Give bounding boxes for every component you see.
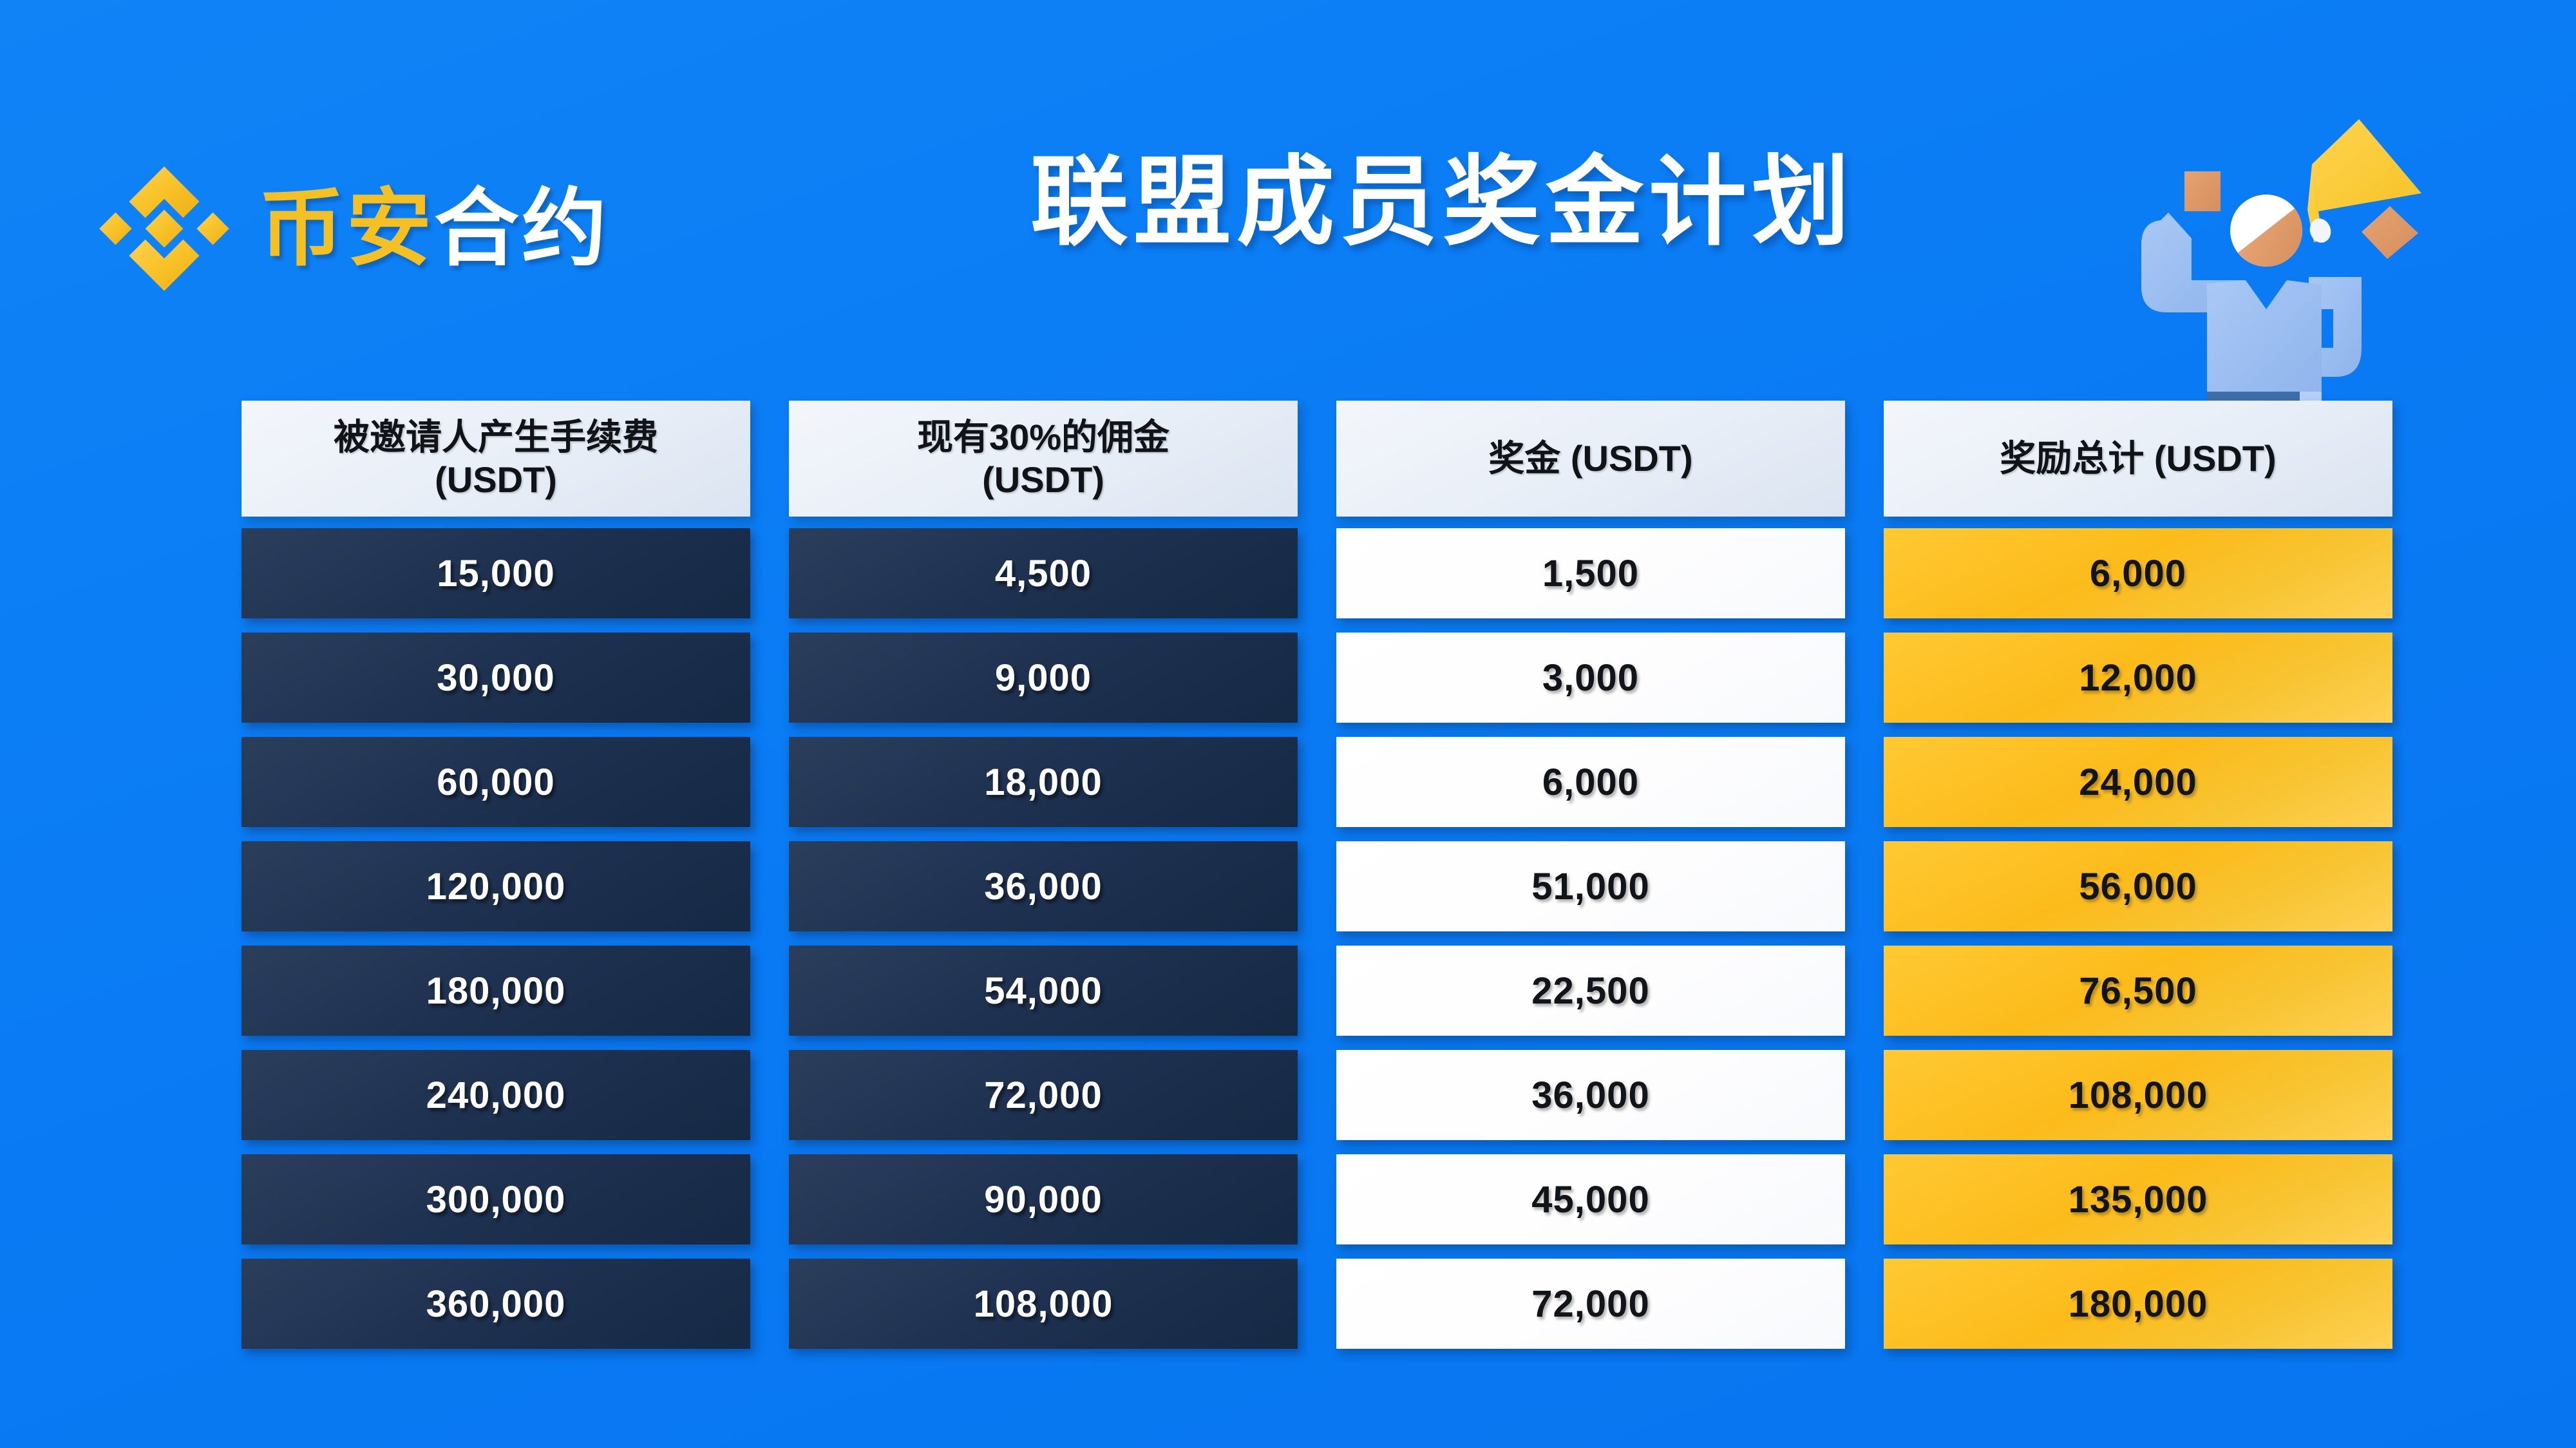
cell-invitee-fees: 240,000	[241, 1050, 750, 1140]
cell-invitee-fees: 15,000	[241, 528, 750, 618]
cell-bonus: 3,000	[1336, 633, 1845, 723]
page-title: 联盟成员奖金计划	[1030, 153, 1855, 251]
cell-invitee-fees: 300,000	[241, 1154, 750, 1244]
cell-total-reward: 108,000	[1884, 1050, 2392, 1140]
table-row: 300,000 90,000 45,000 135,000	[241, 1154, 2392, 1244]
cell-existing-commission: 18,000	[789, 737, 1298, 827]
table-row: 15,000 4,500 1,500 6,000	[241, 528, 2392, 618]
brand-name-secondary: 合约	[434, 181, 609, 276]
column-header-existing-commission: 现有30%的佣金(USDT)	[789, 401, 1298, 517]
table-header-row: 被邀请人产生手续费(USDT) 现有30%的佣金(USDT) 奖金 (USDT)…	[241, 401, 2392, 517]
column-header-invitee-fees: 被邀请人产生手续费(USDT)	[241, 401, 750, 517]
binance-logo-icon	[97, 161, 232, 296]
cell-invitee-fees: 360,000	[241, 1259, 750, 1349]
table-row: 60,000 18,000 6,000 24,000	[241, 737, 2392, 827]
cell-total-reward: 76,500	[1884, 946, 2392, 1036]
cell-bonus: 72,000	[1336, 1259, 1845, 1349]
cell-bonus: 22,500	[1336, 946, 1845, 1036]
cell-bonus: 1,500	[1336, 528, 1845, 618]
table-row: 30,000 9,000 3,000 12,000	[241, 633, 2392, 723]
column-header-bonus: 奖金 (USDT)	[1336, 401, 1845, 517]
column-header-line2: (USDT)	[982, 459, 1104, 500]
cell-existing-commission: 9,000	[789, 633, 1298, 723]
column-header-line1: 奖金 (USDT)	[1488, 437, 1692, 480]
table-row: 240,000 72,000 36,000 108,000	[241, 1050, 2392, 1140]
brand-name: 币安合约	[259, 186, 609, 271]
brand-name-primary: 币安	[259, 181, 434, 276]
table-row: 120,000 36,000 51,000 56,000	[241, 841, 2392, 931]
cell-existing-commission: 72,000	[789, 1050, 1298, 1140]
column-header-total-reward: 奖励总计 (USDT)	[1884, 401, 2392, 517]
cell-existing-commission: 108,000	[789, 1259, 1298, 1349]
column-header-line2: (USDT)	[435, 459, 557, 500]
cell-total-reward: 135,000	[1884, 1154, 2392, 1244]
cell-invitee-fees: 30,000	[241, 633, 750, 723]
cell-existing-commission: 4,500	[789, 528, 1298, 618]
cell-existing-commission: 54,000	[789, 946, 1298, 1036]
cell-bonus: 36,000	[1336, 1050, 1845, 1140]
cell-total-reward: 180,000	[1884, 1259, 2392, 1349]
cell-existing-commission: 90,000	[789, 1154, 1298, 1244]
bonus-table: 被邀请人产生手续费(USDT) 现有30%的佣金(USDT) 奖金 (USDT)…	[241, 401, 2392, 1349]
brand-logo: 币安合约	[97, 161, 609, 296]
column-header-line1: 奖励总计 (USDT)	[2000, 437, 2276, 480]
table-row: 180,000 54,000 22,500 76,500	[241, 946, 2392, 1036]
cell-total-reward: 12,000	[1884, 633, 2392, 723]
person-with-megaphone-illustration	[2096, 84, 2438, 419]
page-header: 币安合约 联盟成员奖金计划	[0, 0, 2576, 361]
cell-invitee-fees: 60,000	[241, 737, 750, 827]
cell-total-reward: 24,000	[1884, 737, 2392, 827]
cell-bonus: 51,000	[1336, 841, 1845, 931]
cell-existing-commission: 36,000	[789, 841, 1298, 931]
cell-invitee-fees: 120,000	[241, 841, 750, 931]
cell-total-reward: 6,000	[1884, 528, 2392, 618]
cell-invitee-fees: 180,000	[241, 946, 750, 1036]
column-header-line1: 现有30%的佣金	[917, 417, 1170, 457]
table-row: 360,000 108,000 72,000 180,000	[241, 1259, 2392, 1349]
cell-bonus: 6,000	[1336, 737, 1845, 827]
cell-total-reward: 56,000	[1884, 841, 2392, 931]
column-header-line1: 被邀请人产生手续费	[334, 417, 658, 457]
cell-bonus: 45,000	[1336, 1154, 1845, 1244]
